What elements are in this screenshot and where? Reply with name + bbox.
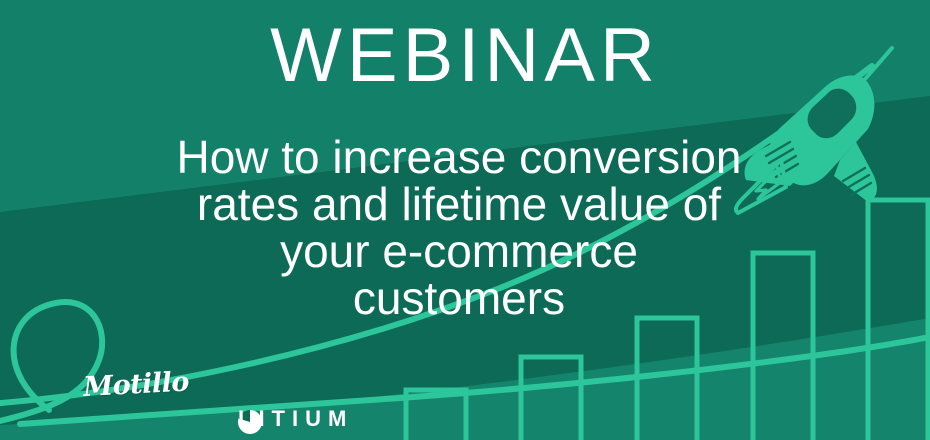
subtitle: How to increase conversion rates and lif… [0, 134, 918, 322]
litium-logo: LITIUM [238, 408, 353, 430]
litium-wordmark: LITIUM [238, 408, 353, 430]
webinar-banner: WEBINAR How to increase conversion rates… [0, 0, 930, 440]
motillo-logo: Motillo [83, 369, 190, 401]
page-title: WEBINAR [0, 18, 930, 94]
subtitle-line-1: How to increase conversion [0, 134, 918, 181]
subtitle-line-4: customers [0, 275, 918, 322]
text-layer: WEBINAR How to increase conversion rates… [0, 0, 930, 440]
subtitle-line-2: rates and lifetime value of [0, 181, 918, 228]
subtitle-line-3: your e-commerce [0, 228, 918, 275]
